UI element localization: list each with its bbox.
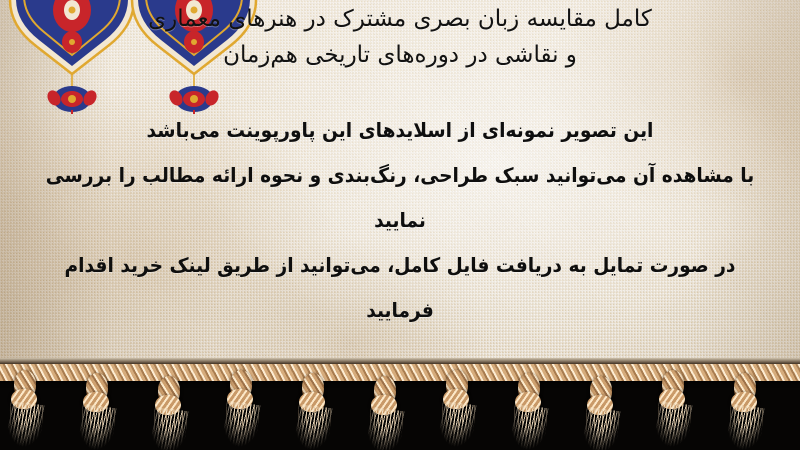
carpet-fringe-band: [0, 358, 800, 450]
slide-body: این تصویر نمونه‌ای از اسلایدهای این پاور…: [0, 108, 800, 333]
tassel-strands: [725, 404, 764, 450]
fringe-tassel: [438, 370, 476, 448]
fringe-tassel: [582, 376, 620, 450]
body-line-2: با مشاهده آن می‌توانید سبک طراحی، رنگ‌بن…: [28, 153, 772, 243]
title-line-2: و نقاشی در دوره‌های تاریخی هم‌زمان: [6, 37, 794, 73]
slide-text-layer: کامل مقایسه زبان بصری مشترک در هنرهای مع…: [0, 0, 800, 372]
tassel-strands: [77, 404, 116, 450]
fringe-tassel: [726, 373, 764, 450]
tassel-strands: [149, 407, 188, 450]
tassel-strands: [221, 401, 260, 450]
fringe-tassel: [366, 376, 404, 450]
tassel-strands: [5, 401, 44, 450]
fringe-tassel: [150, 376, 188, 450]
tassel-strands: [653, 401, 692, 450]
tassel-strands: [293, 404, 332, 450]
fringe-tassel: [78, 373, 116, 450]
fringe-tassel: [510, 373, 548, 450]
slide-canvas: کامل مقایسه زبان بصری مشترک در هنرهای مع…: [0, 0, 800, 450]
fringe-tassel: [222, 370, 260, 448]
fringe-tassel: [294, 373, 332, 450]
tassel-strands: [365, 407, 404, 450]
fringe-tassel: [6, 370, 44, 448]
fringe-tassel: [654, 370, 692, 448]
tassel-strands: [581, 407, 620, 450]
tassel-strands: [437, 401, 476, 450]
title-line-1: کامل مقایسه زبان بصری مشترک در هنرهای مع…: [6, 1, 794, 37]
tassel-strands: [509, 404, 548, 450]
slide-title: کامل مقایسه زبان بصری مشترک در هنرهای مع…: [0, 1, 800, 73]
body-line-3: در صورت تمایل به دریافت فایل کامل، می‌تو…: [28, 243, 772, 333]
body-line-1: این تصویر نمونه‌ای از اسلایدهای این پاور…: [28, 108, 772, 153]
